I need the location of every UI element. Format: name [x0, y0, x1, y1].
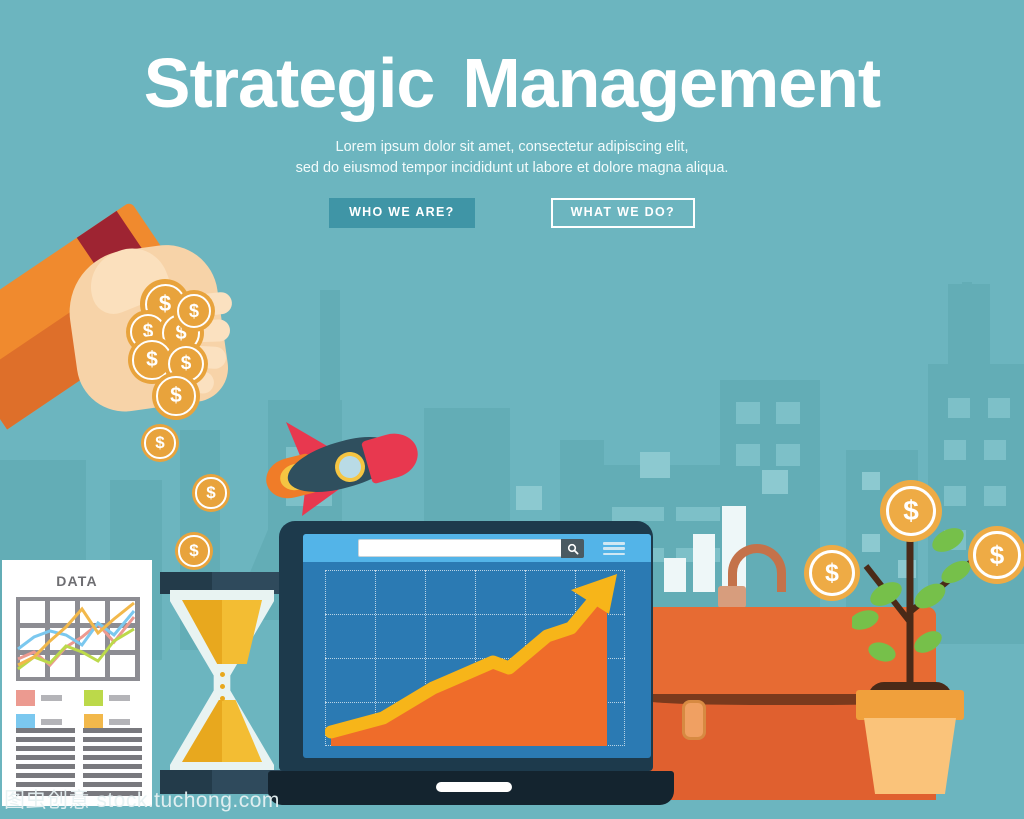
coin-falling-2: $ [192, 474, 230, 512]
growth-chart-graphic [325, 570, 625, 746]
laptop-lid [279, 521, 653, 771]
briefcase-handle [728, 544, 786, 592]
hourglass-icon [160, 572, 284, 794]
coin-hand-6: $ [152, 372, 200, 420]
legend-swatch-2 [84, 690, 103, 706]
money-plant-illustration: $ $ [852, 492, 1024, 802]
rocket-icon [258, 418, 410, 518]
briefcase-handle-post [718, 586, 746, 608]
coin-falling-3: $ [175, 532, 213, 570]
screen-chart [303, 562, 651, 758]
browser-toolbar [303, 534, 651, 562]
legend-item-2 [84, 690, 130, 706]
laptop-screen [303, 534, 651, 758]
briefcase-clasp [682, 700, 706, 740]
data-document: DATA [2, 560, 152, 806]
search-input[interactable] [358, 539, 570, 557]
coin-plant-2: $ [968, 526, 1024, 584]
legend-item-1 [16, 690, 62, 706]
document-heading: DATA [2, 560, 152, 589]
laptop-trackpad[interactable] [436, 782, 512, 792]
laptop-illustration [268, 521, 674, 811]
coin-falling-1: $ [141, 424, 179, 462]
coin-briefcase: $ [804, 545, 860, 601]
hamburger-menu-icon[interactable] [603, 542, 625, 555]
coin-hand-7: $ [173, 290, 215, 332]
illustration-canvas: StrategicManagement Lorem ipsum dolor si… [0, 0, 1024, 819]
watermark: 图虫创意 stock.tuchong.com [4, 784, 280, 814]
legend-swatch-1 [16, 690, 35, 706]
coin-plant-1: $ [880, 480, 942, 542]
search-icon[interactable] [561, 539, 584, 558]
plant-pot-rim [856, 690, 964, 720]
plant-pot-body [864, 718, 956, 794]
document-line-chart [16, 597, 140, 681]
illustration-scene: $ $ $ $ $ $ $ $ $ $ DATA [0, 0, 1024, 819]
